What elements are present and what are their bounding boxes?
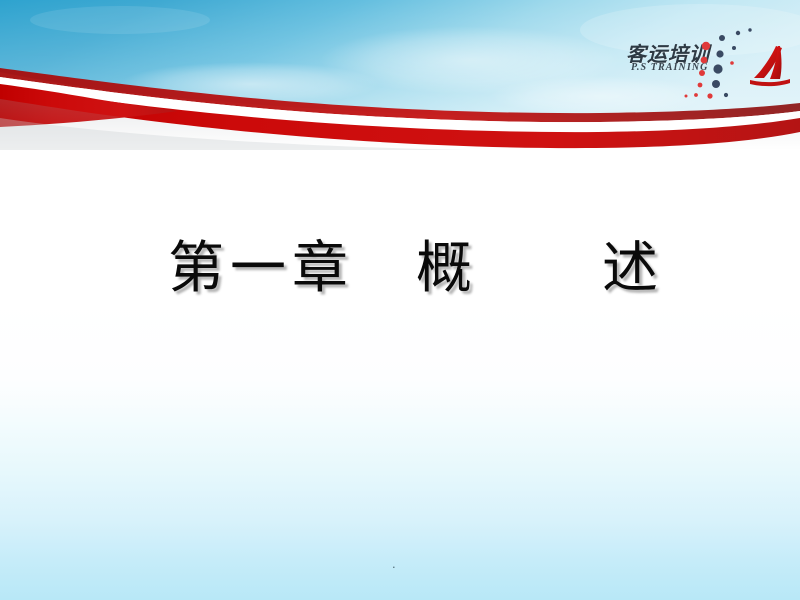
header-banner — [0, 0, 800, 150]
page-title: 第一章 概 述 — [168, 240, 664, 299]
presentation-slide: 客运培训 P.S TRAINING — [0, 0, 800, 600]
title-area: 第一章 概 述 — [0, 240, 800, 299]
bottom-mark: . — [392, 556, 396, 571]
